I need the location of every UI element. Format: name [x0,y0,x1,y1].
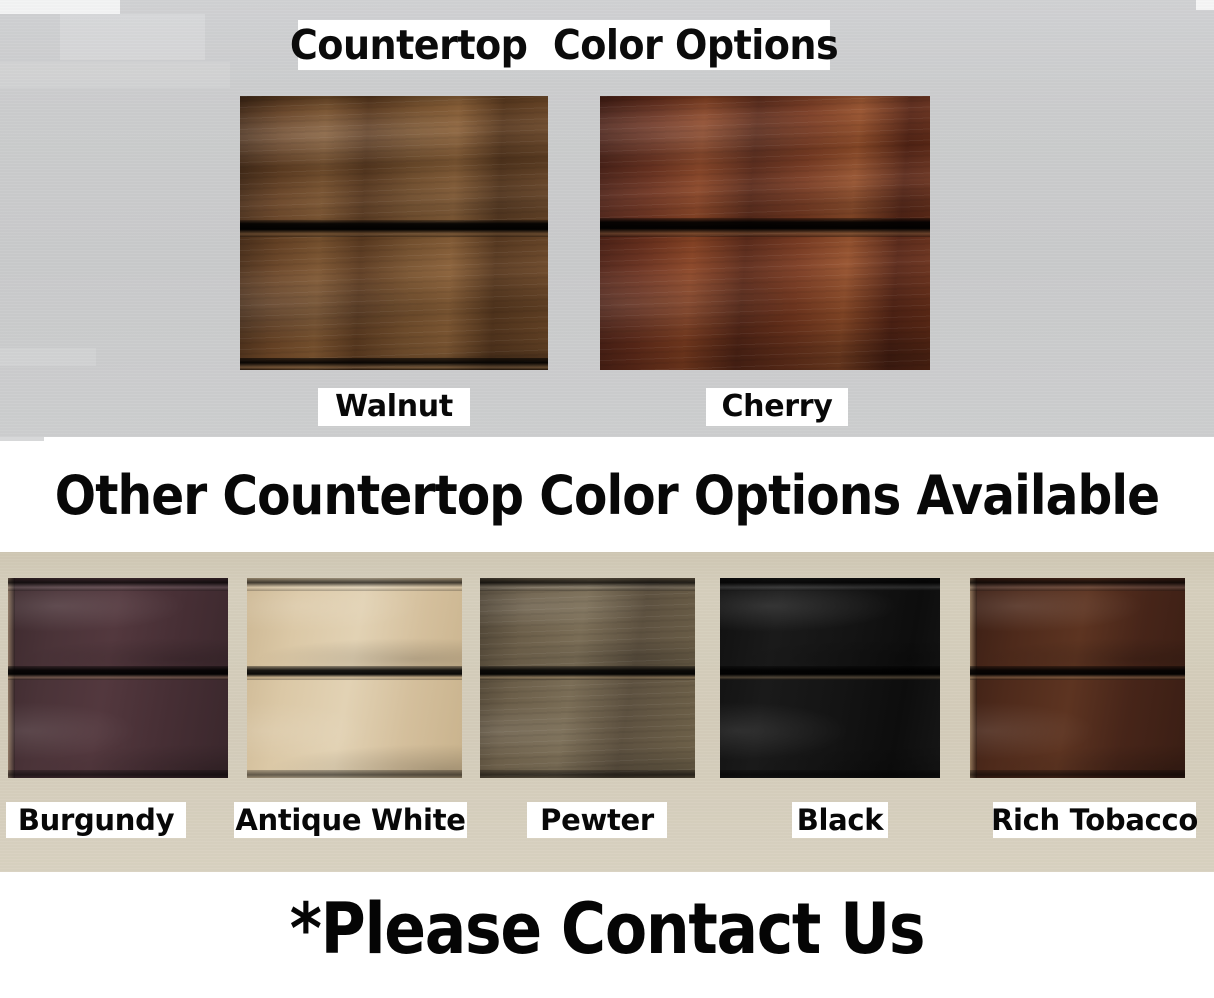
swatch-label-rich-tobacco: Rich Tobacco [993,802,1196,838]
wood-grain-lines [480,578,695,778]
wood-grain-overlay [247,578,462,778]
contact-note: *Please Contact Us [73,886,1141,972]
wood-grain-overlay [720,578,940,778]
panel-highlight [0,348,96,366]
panel-groove [240,220,548,237]
swatch-burgundy[interactable] [8,578,228,778]
swatch-label-walnut: Walnut [318,388,470,426]
swatch-antique-white[interactable] [247,578,462,778]
panel-bottom-groove [720,770,940,778]
wood-grain-lines [240,96,548,370]
swatch-label-pewter: Pewter [527,802,667,838]
wood-grain-lines [600,96,930,370]
panel-left-edge [970,578,977,778]
panel-highlight [0,62,230,88]
wood-grain-overlay [600,96,930,370]
panel-bottom-groove [8,770,228,778]
swatch-label-black: Black [792,802,888,838]
panel-top-groove [720,578,940,591]
wood-grain-overlay [240,96,548,370]
panel-groove [970,666,1185,680]
panel-left-edge [8,578,15,778]
swatch-rich-tobacco[interactable] [970,578,1185,778]
panel-groove [720,666,940,680]
panel-groove [600,218,930,237]
panel-top-groove [480,578,695,591]
wood-grain-overlay [8,578,228,778]
countertop-color-options-graphic: Countertop Color Options Walnut Cherry O… [0,0,1214,998]
panel-top-groove [247,578,462,591]
swatch-cherry[interactable] [600,96,930,370]
section-subtitle: Other Countertop Color Options Available [61,460,1154,532]
swatch-pewter[interactable] [480,578,695,778]
panel-bottom-groove [247,770,462,778]
panel-highlight [1196,0,1214,10]
panel-highlight [0,0,120,14]
panel-bottom-groove [970,770,1185,778]
panel-top-groove [970,578,1185,591]
page-title: Countertop Color Options [298,20,830,70]
band-edge [0,437,44,441]
wood-grain-overlay [970,578,1185,778]
panel-highlight [60,14,205,60]
panel-bottom-groove [240,358,548,370]
swatch-walnut[interactable] [240,96,548,370]
panel-groove [247,666,462,680]
panel-top-groove [8,578,228,591]
panel-groove [8,666,228,680]
swatch-label-cherry: Cherry [706,388,848,426]
wood-grain-overlay [480,578,695,778]
swatch-label-burgundy: Burgundy [6,802,186,838]
swatch-black[interactable] [720,578,940,778]
panel-groove [480,666,695,680]
swatch-label-antique-white: Antique White [234,802,467,838]
panel-bottom-groove [480,770,695,778]
